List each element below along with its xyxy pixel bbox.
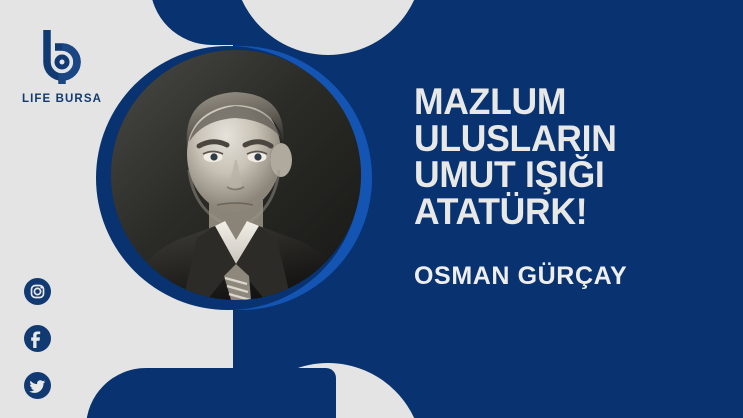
article-headline: MAZLUM ULUSLARIN UMUT IŞIĞI ATATÜRK!	[414, 84, 712, 231]
article-author: OSMAN GÜRÇAY	[414, 231, 724, 291]
article-banner: LIFE BURSA MAZLUM ULUSLARIN UMUT IŞIĞI	[0, 0, 743, 418]
headline-line-3: UMUT IŞIĞI	[414, 157, 712, 194]
portrait-illustration	[111, 50, 361, 300]
article-text-block: MAZLUM ULUSLARIN UMUT IŞIĞI ATATÜRK! OSM…	[414, 84, 724, 291]
facebook-glyph	[24, 325, 51, 352]
headline-line-4: ATATÜRK!	[414, 194, 712, 231]
twitter-bird-glyph	[24, 372, 51, 399]
facebook-icon[interactable]	[24, 325, 51, 352]
life-bursa-b-logo-icon	[31, 26, 93, 88]
social-links	[24, 278, 51, 418]
portrait-photo	[111, 50, 361, 300]
twitter-icon[interactable]	[24, 372, 51, 399]
instagram-icon[interactable]	[24, 278, 51, 305]
headline-line-1: MAZLUM	[414, 84, 712, 121]
brand-logo[interactable]: LIFE BURSA	[14, 26, 110, 105]
instagram-glyph	[24, 278, 51, 305]
brand-name: LIFE BURSA	[14, 93, 110, 105]
headline-line-2: ULUSLARIN	[414, 121, 712, 158]
navy-bottom-shape	[86, 368, 336, 418]
